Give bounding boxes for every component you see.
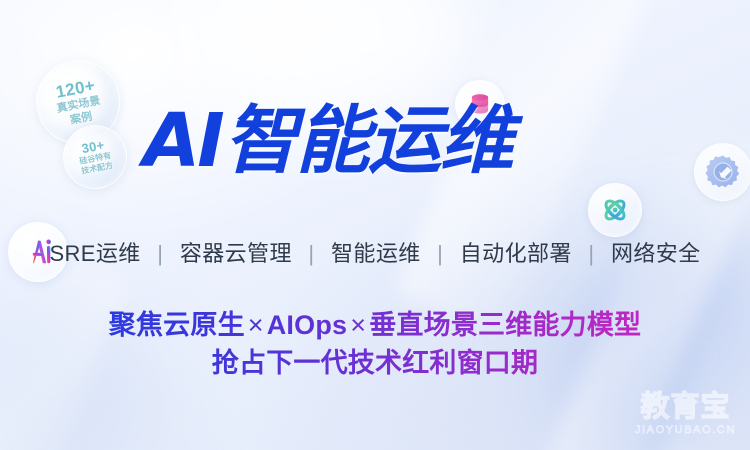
stat-badge-cases-caption-2: 案例 [69,110,93,126]
gear-wrench-icon [694,143,750,201]
promo-poster: 120+ 真实场景 案例 30+ 硅谷特有 技术配方 AI智能运维 [0,0,750,450]
keyword-container-cloud: 容器云管理 [178,241,294,266]
tagline-part-model: 垂直场景三维能力模型 [369,310,641,340]
tagline-line-2: 抢占下一代技术红利窗口期 [0,344,750,382]
tagline-multiply-2: × [347,310,369,340]
tagline-multiply-1: × [245,310,267,340]
watermark-english: JIAOYUBAO.CN [635,424,736,436]
page-title-chinese: 智能运维 [224,98,512,184]
page-title-english: AI [143,98,222,184]
keyword-separator: | [300,241,322,266]
keyword-sre: SRE运维 [47,241,142,266]
tagline-part-cloudnative: 聚焦云原生 [109,310,245,340]
tagline-part-aiops: AIOps [267,310,348,340]
keyword-network-security: 网络安全 [609,241,703,266]
page-title: AI智能运维 [143,104,512,178]
atom-icon [588,183,642,237]
keyword-automation: 自动化部署 [458,241,574,266]
watermark-chinese: 教育宝 [635,392,736,422]
tagline-line-1: 聚焦云原生×AIOps×垂直场景三维能力模型 [0,306,750,344]
keyword-separator: | [580,241,602,266]
keyword-aiops: 智能运维 [329,241,423,266]
tagline-block: 聚焦云原生×AIOps×垂直场景三维能力模型 抢占下一代技术红利窗口期 [0,306,750,383]
watermark: 教育宝 JIAOYUBAO.CN [635,392,736,436]
keyword-separator: | [149,241,171,266]
keyword-separator: | [429,241,451,266]
keyword-list: SRE运维 | 容器云管理 | 智能运维 | 自动化部署 | 网络安全 [0,236,750,268]
